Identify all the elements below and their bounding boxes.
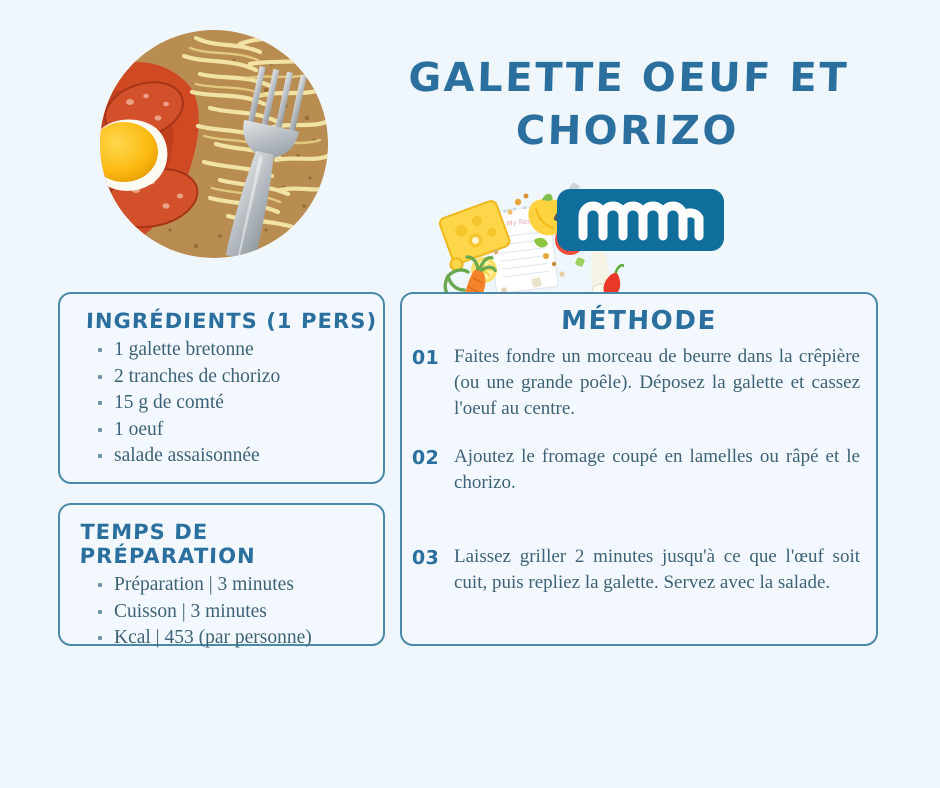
ingredients-panel: INGRÉDIENTS (1 PERS) 1 galette bretonne … — [58, 292, 385, 484]
method-step: 02 Ajoutez le fromage coupé en lamelles … — [412, 444, 860, 496]
list-item: 15 g de comté — [114, 390, 383, 417]
title-line-2: CHORIZO — [377, 105, 878, 158]
recipe-card: GALETTE OEUF ET CHORIZO My Recipe — [0, 0, 940, 788]
title-line-1: GALETTE OEUF ET — [378, 52, 879, 105]
ingredients-heading: INGRÉDIENTS (1 PERS) — [86, 309, 384, 333]
step-text: Laissez griller 2 minutes jusqu'à ce que… — [454, 544, 860, 596]
preparation-time-panel: TEMPS DE PRÉPARATION Préparation | 3 min… — [58, 503, 385, 646]
page-title: GALETTE OEUF ET CHORIZO — [377, 52, 880, 158]
step-text: Faites fondre un morceau de beurre dans … — [454, 344, 860, 422]
galette-photo-illustration — [100, 30, 328, 258]
method-panel: MÉTHODE 01 Faites fondre un morceau de b… — [400, 292, 878, 646]
list-item: 2 tranches de chorizo — [114, 364, 383, 391]
method-heading: MÉTHODE — [402, 306, 877, 336]
list-item: 1 oeuf — [114, 417, 383, 444]
list-item: salade assaisonnée — [114, 443, 383, 470]
step-number: 03 — [412, 544, 455, 569]
step-number: 02 — [412, 444, 455, 469]
ingredients-list: 1 galette bretonne 2 tranches de chorizo… — [60, 337, 383, 470]
preparation-time-list: Préparation | 3 minutes Cuisson | 3 minu… — [60, 572, 383, 652]
step-text: Ajoutez le fromage coupé en lamelles ou … — [454, 444, 860, 496]
brand-logo-badge — [557, 189, 724, 251]
method-step: 03 Laissez griller 2 minutes jusqu'à ce … — [412, 544, 860, 596]
method-steps: 01 Faites fondre un morceau de beurre da… — [402, 344, 876, 596]
list-item: Cuisson | 3 minutes — [114, 599, 383, 626]
list-item: Préparation | 3 minutes — [114, 572, 383, 599]
list-item: 1 galette bretonne — [114, 337, 383, 364]
preparation-time-heading: TEMPS DE PRÉPARATION — [79, 520, 383, 568]
list-item: Kcal | 453 (par personne) — [114, 625, 383, 652]
step-number: 01 — [412, 344, 455, 369]
brand-logo-area: My Recipe — [434, 178, 734, 300]
mmm-wordmark — [577, 198, 705, 242]
recipe-photo — [100, 30, 328, 258]
method-step: 01 Faites fondre un morceau de beurre da… — [412, 344, 860, 422]
